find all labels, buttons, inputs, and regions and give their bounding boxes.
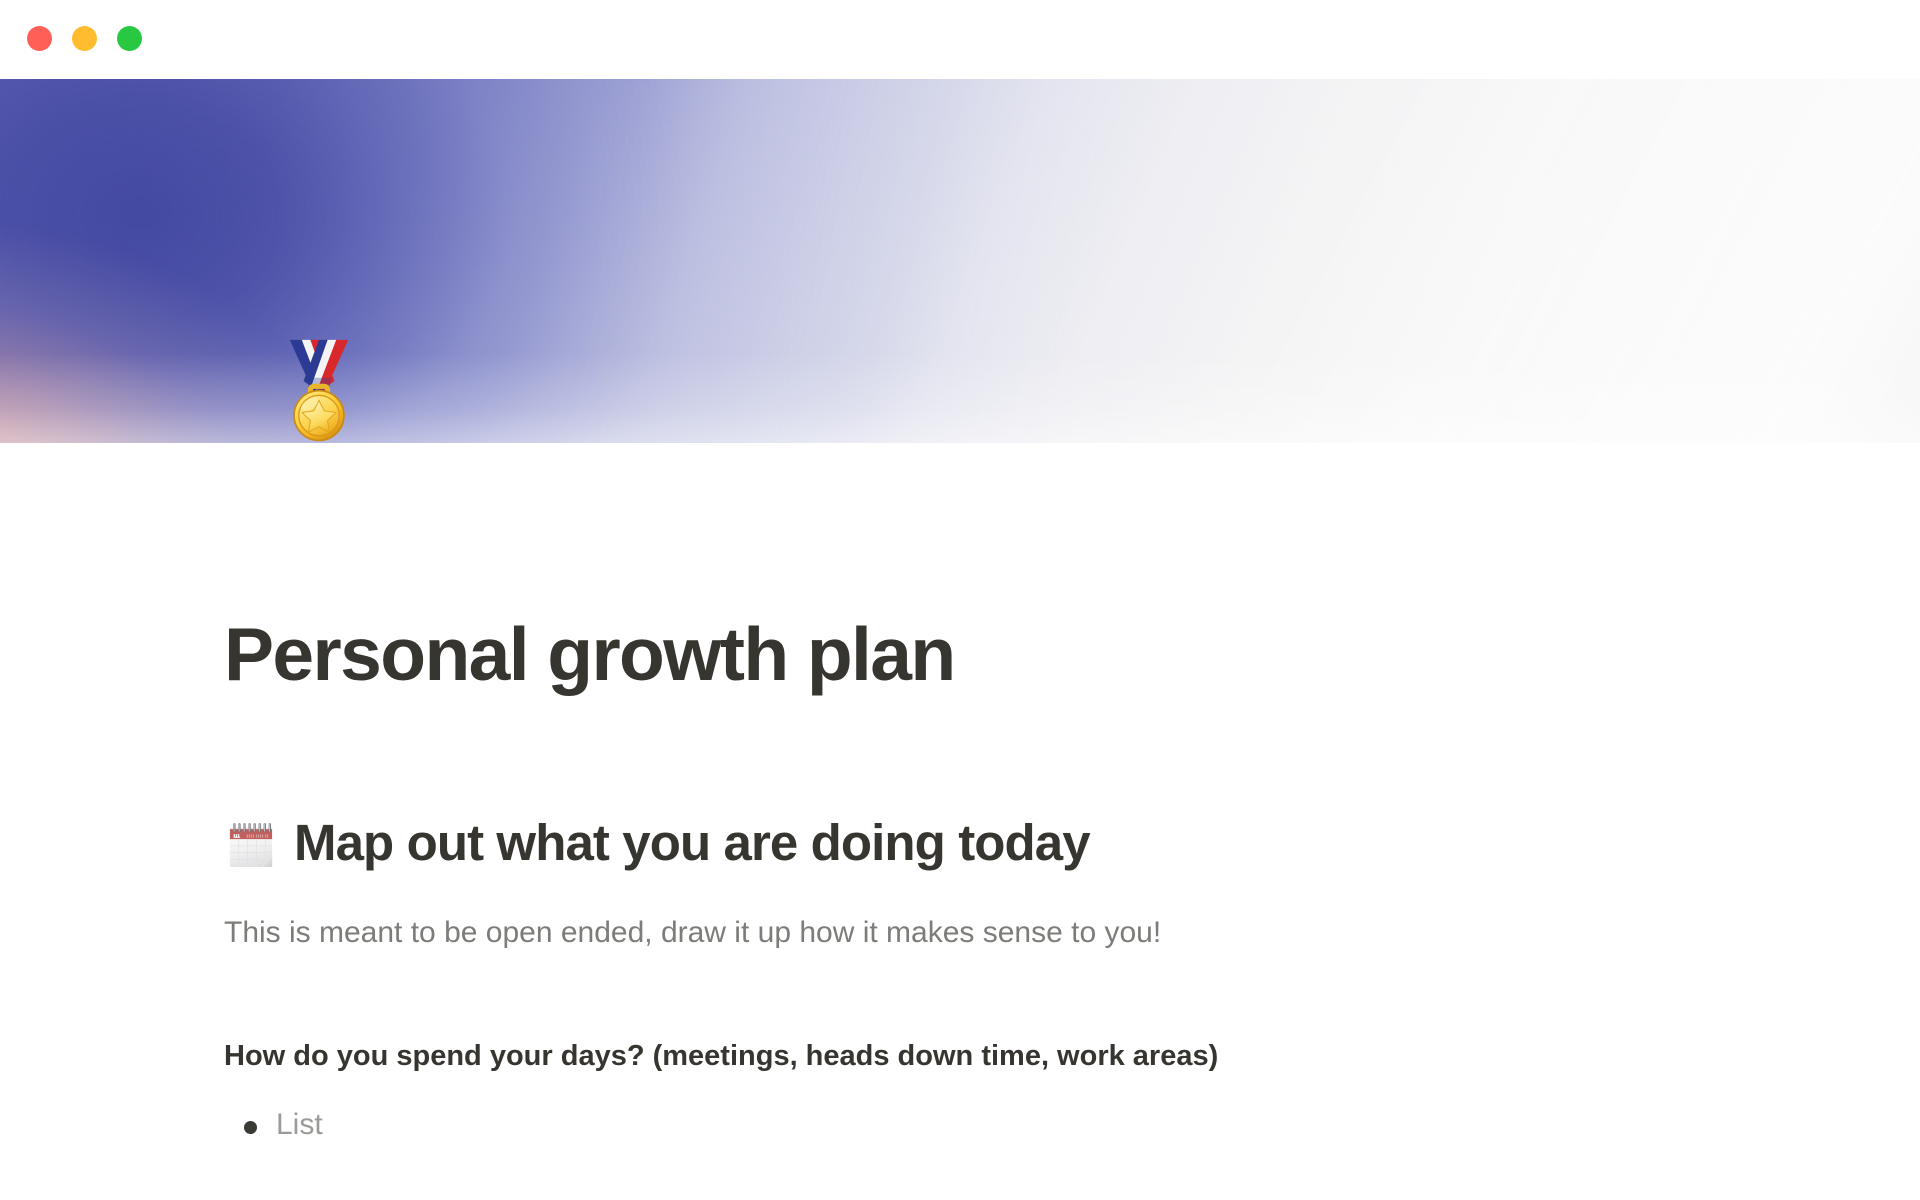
bullet-point-icon [224,1103,276,1143]
bulleted-list: List [224,1103,323,1149]
spiral-calendar-icon [224,818,278,872]
section-heading-text: Map out what you are doing today [294,815,1090,871]
page-title[interactable]: Personal growth plan [224,615,955,695]
app-window: Personal growth plan [0,0,1920,1200]
question-prompt[interactable]: How do you spend your days? (meetings, h… [224,1035,1218,1077]
list-item[interactable]: List [224,1103,323,1149]
traffic-light-group [27,26,142,51]
sports-medal-icon[interactable] [264,333,374,443]
section-subtitle[interactable]: This is meant to be open ended, draw it … [224,911,1161,955]
close-window-icon[interactable] [27,26,52,51]
maximize-window-icon[interactable] [117,26,142,51]
window-titlebar [0,0,1920,79]
minimize-window-icon[interactable] [72,26,97,51]
list-item-text[interactable]: List [276,1103,323,1147]
document-body: Personal growth plan [0,443,1920,1200]
cover-salmon-glow [0,199,480,443]
section-heading-block[interactable]: Map out what you are doing today [224,815,1090,871]
